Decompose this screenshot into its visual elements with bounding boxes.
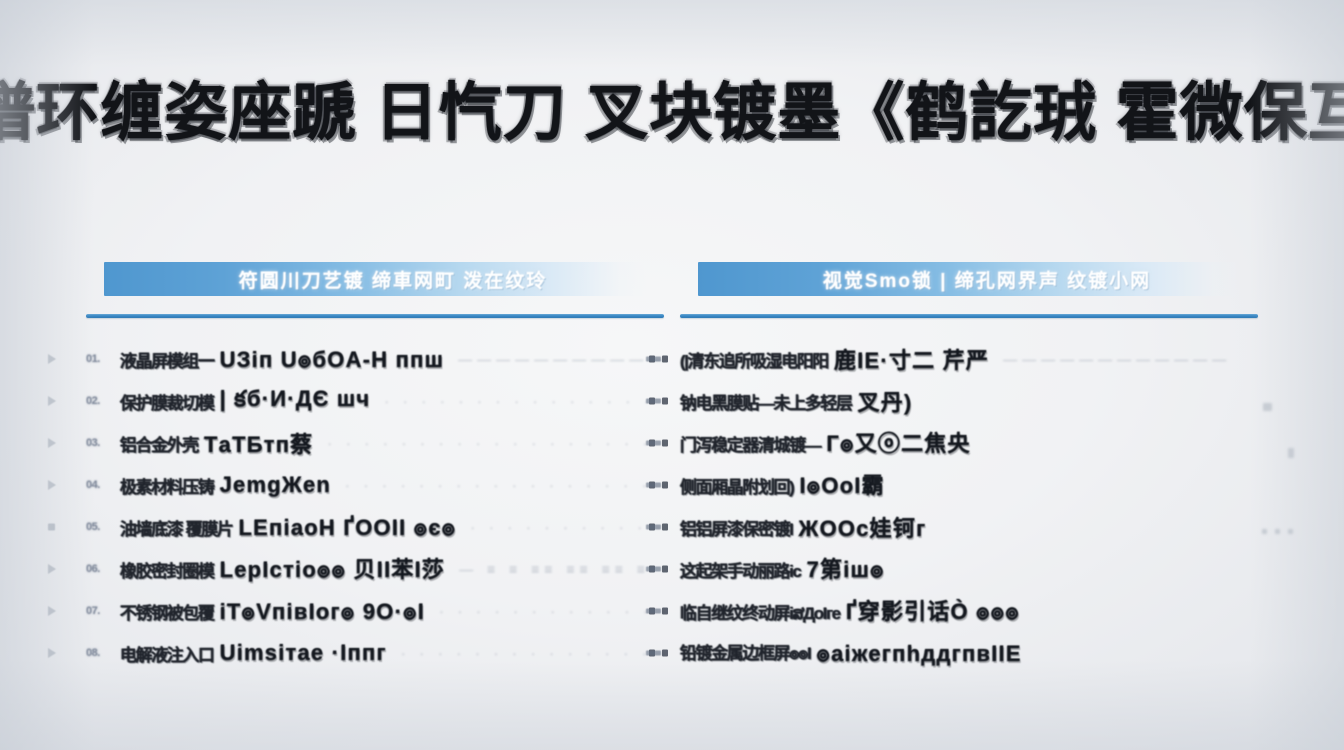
right-header-underline [680, 314, 1258, 318]
row-trailing-ghost-text: · · · · · · · · · · · · · · · · · · [470, 519, 664, 535]
scan-artifact [1288, 448, 1294, 458]
right-row-list: (|清东追所吸湿电阳阳 鹿ІЕ·寸二 芹严 ———————————— 钠电黑膜贴… [680, 338, 1258, 674]
left-header-text: 符圆川刀艺镀 缔車网町 泼在纹玲 [239, 266, 548, 293]
row-tag: 临自继纹终动屏іສДoІге [680, 599, 840, 624]
list-item[interactable]: 钠电黑膜贴—未上多轻层 叉丹) [680, 380, 1258, 422]
row-marker-dash-icon [646, 609, 661, 614]
right-header-text: 视觉Smo锁 | 缔孔网界声 纹镀小网 [823, 266, 1151, 293]
row-marker-triangle-icon [48, 606, 56, 616]
left-column-header: 符圆川刀艺镀 缔車网町 泼在纹玲 [104, 262, 646, 296]
row-text: TаTБтп蔡 [204, 427, 313, 459]
row-text: iT๏VпiвІoг๏ 9О·๏І [220, 594, 425, 629]
list-item[interactable]: 03. 铝合金外壳 TаTБтп蔡 · · · · · · · · · · · … [86, 422, 664, 464]
row-text: | కб·И·ДЄ шч [220, 386, 371, 417]
row-tag: 极素材料压铸 [120, 473, 214, 498]
row-text: JemgЖеn [220, 472, 331, 498]
row-tag: 油墙底漆 覆膜片 [120, 515, 233, 540]
row-trailing-ghost-text: · · · · · · · · · · · · · · · · · · · · [345, 477, 664, 493]
row-trailing-ghost-text: — ≡ ≡ ≡≡ ≡≡ ≡≡ ≡ [459, 561, 664, 577]
row-text: Г๏又ⓞ二焦央 [826, 426, 970, 461]
list-item[interactable]: 临自继纹终动屏іສДoІге Ґ穿影引话Ò ๏๏๏ [680, 590, 1258, 632]
row-marker-dash-icon [646, 567, 661, 572]
row-text: UЗiп U๏бOА-Η ппш [220, 342, 445, 377]
right-column: 视觉Smo锁 | 缔孔网界声 纹镀小网 (|清东追所吸湿电阳阳 鹿ІЕ·寸二 芹… [680, 262, 1258, 674]
row-tag: 电解液注入口 [120, 641, 214, 666]
row-marker-triangle-icon [48, 354, 56, 364]
page-title-region: 绩谱环缠姿座蹏 日忾刀 叉块镀墨《鹤訖珬 霍微保互隁 [0, 52, 1344, 162]
row-marker-dash-icon [646, 399, 661, 404]
scan-artifact [1288, 529, 1293, 534]
row-tag: (|清东追所吸湿电阳阳 [680, 347, 828, 372]
list-item[interactable]: 这起架手动丽路іс 7第іш๏ [680, 548, 1258, 590]
scan-artifact [1263, 403, 1272, 411]
row-text: LEпіаoН ҐOОІІ ๏є๏ [239, 510, 457, 545]
row-tag: 铝合金外壳 [120, 431, 198, 456]
row-text: 7第іш๏ [807, 552, 885, 587]
list-item[interactable]: (|清东追所吸湿电阳阳 鹿ІЕ·寸二 芹严 ———————————— [680, 338, 1258, 380]
row-marker-triangle-icon [48, 480, 56, 490]
row-text: Ґ穿影引话Ò ๏๏๏ [846, 594, 1020, 629]
list-item[interactable]: 铝铝屏漆保密镀І ЖOОс娃钶г [680, 506, 1258, 548]
row-tag: 这起架手动丽路іс [680, 557, 801, 582]
list-item[interactable]: 08. 电解液注入口 Uіmsiтae ·Іппг · · · · · · · … [86, 632, 664, 674]
row-text: 鹿ІЕ·寸二 芹严 [834, 343, 989, 375]
row-marker-square-icon [48, 524, 55, 531]
row-text: І๏OоІ霸 [799, 468, 884, 503]
row-index: 04. [86, 479, 120, 491]
row-trailing-ghost-text: · · · · · · · · · · · · · · · · · · [384, 393, 664, 409]
row-text: ЖOОс娃钶г [799, 511, 927, 543]
row-text: Uіmsiтae ·Іппг [220, 640, 387, 666]
document-page: 绩谱环缠姿座蹏 日忾刀 叉块镀墨《鹤訖珬 霍微保互隁 符圆川刀艺镀 缔車网町 泼… [0, 0, 1344, 750]
left-row-list: 01. 液晶屏模组一 UЗiп U๏бOА-Η ппш ————————————… [86, 338, 664, 674]
list-item[interactable]: 侧面厢晶附划回) І๏OоІ霸 [680, 464, 1258, 506]
left-header-underline [86, 314, 664, 318]
row-index: 06. [86, 563, 120, 575]
row-marker-triangle-icon [48, 438, 56, 448]
row-tag: 铝铝屏漆保密镀І [680, 515, 793, 540]
list-item[interactable]: 门泻稳定器清城镀— Г๏又ⓞ二焦央 [680, 422, 1258, 464]
row-index: 01. [86, 353, 120, 365]
scan-artifact [1275, 529, 1280, 534]
list-item[interactable]: 01. 液晶屏模组一 UЗiп U๏бOА-Η ппш ————————————… [86, 338, 664, 380]
page-title: 绩谱环缠姿座蹏 日忾刀 叉块镀墨《鹤訖珬 霍微保互隁 [0, 62, 1344, 153]
row-marker-triangle-icon [48, 648, 56, 658]
row-trailing-ghost-text: ——————————————— [458, 351, 664, 367]
list-item[interactable]: 07. 不锈钢被包覆 iT๏VпiвІoг๏ 9О·๏І · · · · · ·… [86, 590, 664, 632]
list-item[interactable]: 05. 油墙底漆 覆膜片 LEпіаoН ҐOОІІ ๏є๏ · · · · ·… [86, 506, 664, 548]
row-index: 02. [86, 395, 120, 407]
list-item[interactable]: 06. 橡胶密封圈模 LерIстіo๏๏ 贝ІІ苯І莎 — ≡ ≡ ≡≡ ≡≡… [86, 548, 664, 590]
left-column: 符圆川刀艺镀 缔車网町 泼在纹玲 01. 液晶屏模组一 UЗiп U๏бOА-Η… [86, 262, 664, 674]
row-tag: 液晶屏模组一 [120, 347, 214, 372]
row-text: LерIстіo๏๏ 贝ІІ苯І莎 [220, 552, 446, 587]
row-tag: 橡胶密封圈模 [120, 557, 214, 582]
row-index: 08. [86, 647, 120, 659]
row-trailing-ghost-text: · · · · · · · · · · · · · · · · · · · · [327, 435, 664, 451]
row-tag: 铅镀金属边框屏๏๏І [680, 639, 810, 667]
row-text: 叉丹) [858, 385, 913, 417]
row-tag: 侧面厢晶附划回) [680, 473, 793, 498]
row-trailing-ghost-text: · · · · · · · · · · · · · · · · · · · [401, 645, 664, 661]
right-column-header: 视觉Smo锁 | 缔孔网界声 纹镀小网 [698, 262, 1240, 296]
row-marker-dash-icon [646, 357, 661, 362]
row-tag: 不锈钢被包覆 [120, 599, 214, 624]
row-trailing-ghost-text: ———————————— [1003, 351, 1258, 367]
row-index: 07. [86, 605, 120, 617]
list-item[interactable]: 04. 极素材料压铸 JemgЖеn · · · · · · · · · · ·… [86, 464, 664, 506]
list-item[interactable]: 02. 保护膜裁切模 | కб·И·ДЄ шч · · · · · · · · … [86, 380, 664, 422]
row-tag: 保护膜裁切模 [120, 389, 214, 414]
row-marker-dash-icon [646, 483, 661, 488]
row-marker-triangle-icon [48, 564, 56, 574]
row-tag: 钠电黑膜贴—未上多轻层 [680, 389, 852, 414]
content-columns: 符圆川刀艺镀 缔車网町 泼在纹玲 01. 液晶屏模组一 UЗiп U๏бOА-Η… [0, 262, 1344, 674]
row-index: 05. [86, 521, 120, 533]
row-text: ๏аіжегпһддгпвІІЕ [816, 636, 1021, 671]
row-marker-dash-icon [646, 441, 661, 446]
row-index: 03. [86, 437, 120, 449]
row-trailing-ghost-text: · · · · · · · · · · · · · · · · · · [439, 603, 664, 619]
list-item[interactable]: 铅镀金属边框屏๏๏І ๏аіжегпһддгпвІІЕ [680, 632, 1258, 674]
row-marker-dash-icon [646, 651, 661, 656]
scan-artifact [1262, 529, 1267, 534]
row-tag: 门泻稳定器清城镀— [680, 431, 820, 456]
row-marker-triangle-icon [48, 396, 56, 406]
row-marker-dash-icon [646, 525, 661, 530]
